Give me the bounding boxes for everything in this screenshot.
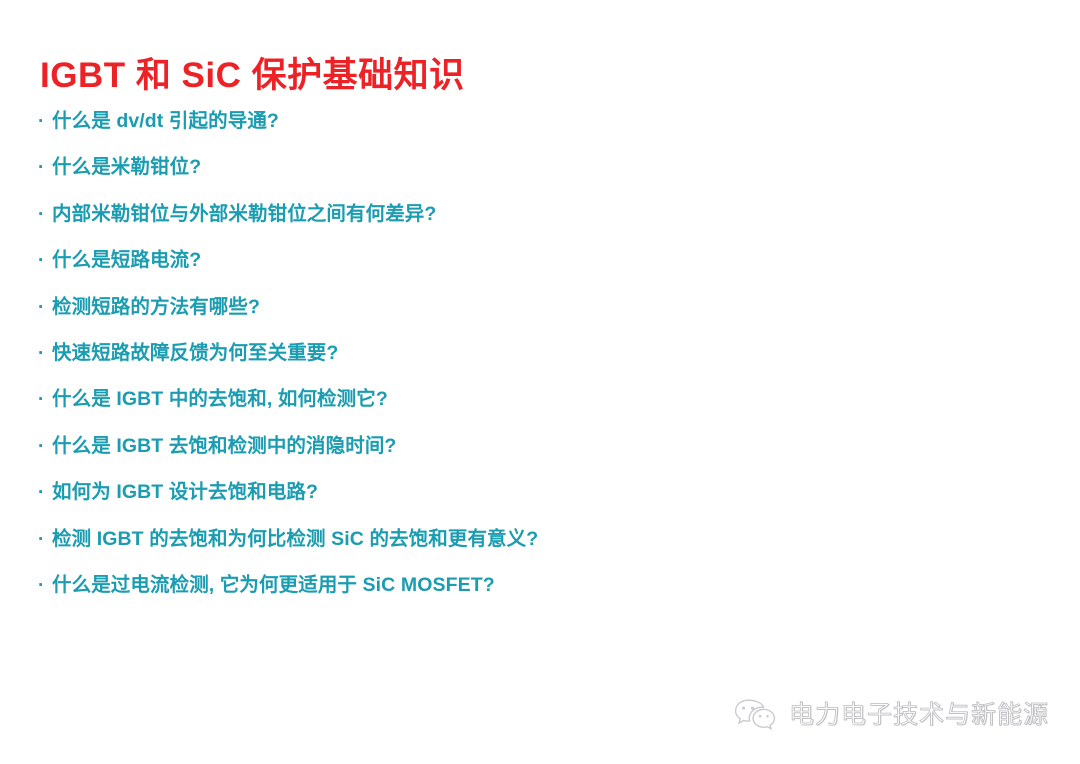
bullet-marker-icon: ·	[38, 433, 52, 460]
list-item: · 快速短路故障反馈为何至关重要?	[38, 340, 1018, 386]
list-item-label: 什么是过电流检测, 它为何更适用于 SiC MOSFET?	[52, 572, 495, 599]
bullet-marker-icon: ·	[38, 526, 52, 553]
bullet-marker-icon: ·	[38, 154, 52, 181]
list-item: · 什么是过电流检测, 它为何更适用于 SiC MOSFET?	[38, 572, 1018, 618]
list-item: · 什么是 IGBT 去饱和检测中的消隐时间?	[38, 433, 1018, 479]
list-item: · 内部米勒钳位与外部米勒钳位之间有何差异?	[38, 201, 1018, 247]
bullet-marker-icon: ·	[38, 247, 52, 274]
watermark-label: 电力电子技术与新能源	[789, 699, 1049, 731]
list-item: · 什么是 IGBT 中的去饱和, 如何检测它?	[38, 386, 1018, 432]
wechat-icon	[733, 697, 777, 733]
list-item: · 如何为 IGBT 设计去饱和电路?	[38, 479, 1018, 525]
bullet-marker-icon: ·	[38, 479, 52, 506]
list-item-label: 什么是 IGBT 中的去饱和, 如何检测它?	[52, 386, 388, 413]
list-item-label: 检测短路的方法有哪些?	[52, 294, 260, 321]
list-item-label: 检测 IGBT 的去饱和为何比检测 SiC 的去饱和更有意义?	[52, 526, 538, 553]
slide-canvas: IGBT 和 SiC 保护基础知识 · 什么是 dv/dt 引起的导通? · 什…	[0, 0, 1080, 764]
list-item: · 什么是短路电流?	[38, 247, 1018, 293]
list-item-label: 如何为 IGBT 设计去饱和电路?	[52, 479, 318, 506]
list-item-label: 内部米勒钳位与外部米勒钳位之间有何差异?	[52, 201, 436, 228]
list-item: · 什么是米勒钳位?	[38, 154, 1018, 200]
bullet-marker-icon: ·	[38, 386, 52, 413]
list-item-label: 快速短路故障反馈为何至关重要?	[52, 340, 338, 367]
list-item-label: 什么是短路电流?	[52, 247, 201, 274]
list-item-label: 什么是 IGBT 去饱和检测中的消隐时间?	[52, 433, 396, 460]
question-list: · 什么是 dv/dt 引起的导通? · 什么是米勒钳位? · 内部米勒钳位与外…	[38, 108, 1018, 618]
bullet-marker-icon: ·	[38, 572, 52, 599]
list-item-label: 什么是米勒钳位?	[52, 154, 201, 181]
list-item: · 检测短路的方法有哪些?	[38, 294, 1018, 340]
list-item-label: 什么是 dv/dt 引起的导通?	[52, 108, 279, 135]
bullet-marker-icon: ·	[38, 340, 52, 367]
bullet-marker-icon: ·	[38, 108, 52, 135]
list-item: · 检测 IGBT 的去饱和为何比检测 SiC 的去饱和更有意义?	[38, 526, 1018, 572]
list-item: · 什么是 dv/dt 引起的导通?	[38, 108, 1018, 154]
bullet-marker-icon: ·	[38, 201, 52, 228]
bullet-marker-icon: ·	[38, 294, 52, 321]
watermark: 电力电子技术与新能源	[733, 697, 1049, 733]
page-title: IGBT 和 SiC 保护基础知识	[40, 53, 465, 99]
